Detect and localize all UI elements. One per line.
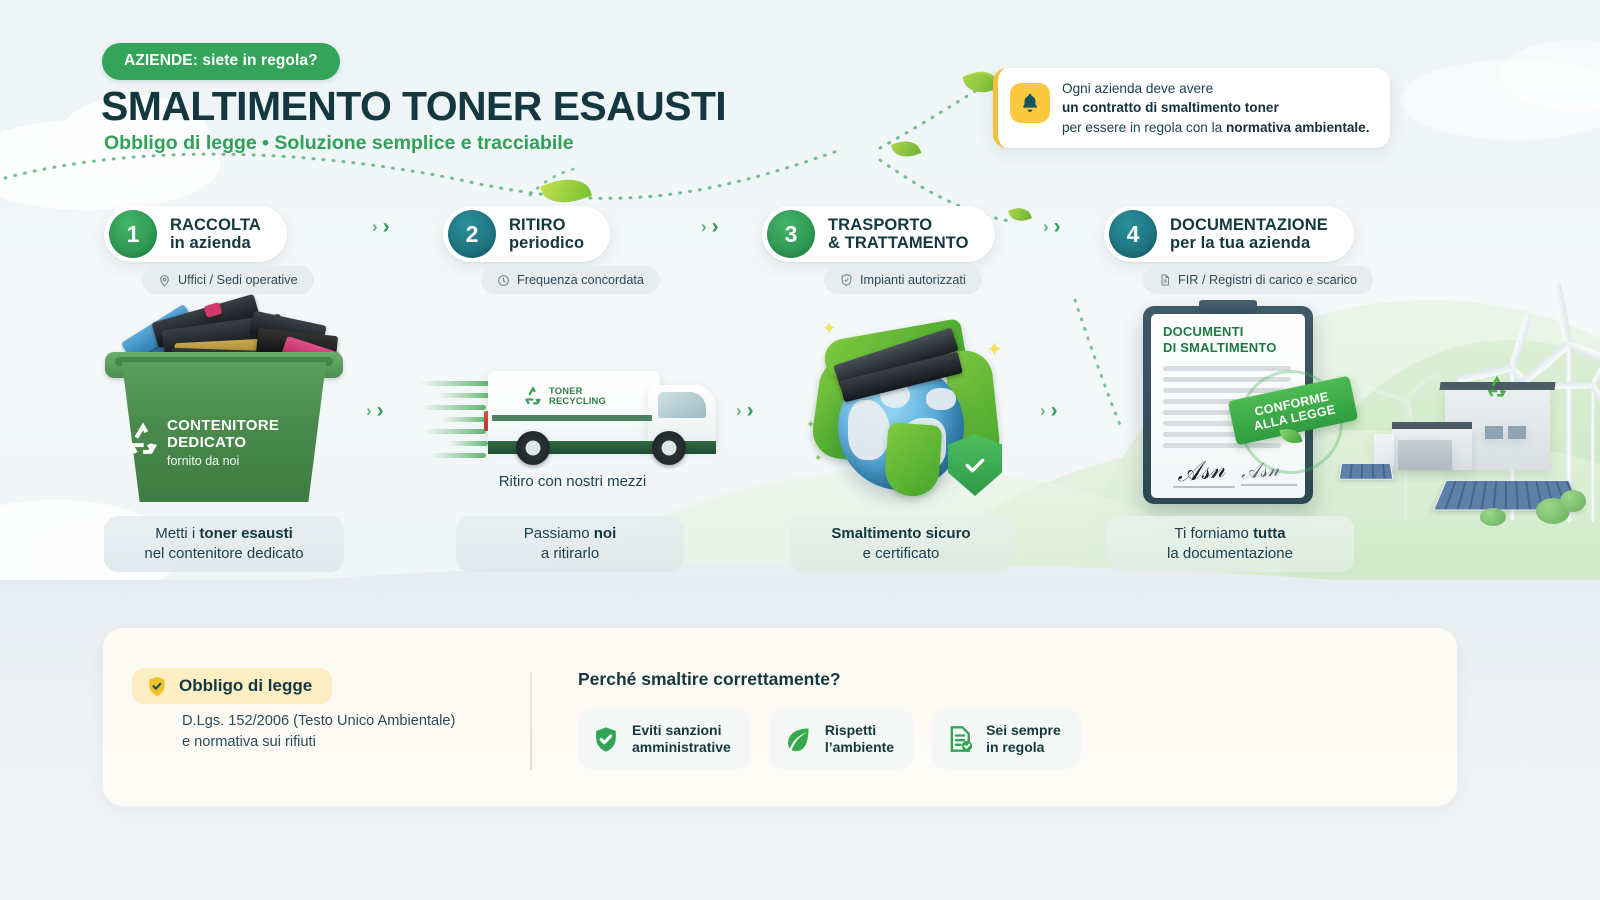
shield-check-icon — [948, 434, 1002, 496]
illustration-arrow-3: › › — [1040, 400, 1058, 421]
document-icon — [1159, 273, 1171, 287]
caption-line-1: Smaltimento sicuro — [831, 524, 970, 544]
bin-label-line-3: fornito da noi — [167, 454, 279, 468]
clipboard-title: DOCUMENTI DI SMALTIMENTO — [1163, 324, 1277, 355]
van-side-trim — [492, 415, 652, 421]
shield-check-icon — [146, 674, 168, 698]
caption-line-1: Ti forniamo tutta — [1174, 524, 1285, 544]
motion-line — [420, 381, 490, 386]
step-card-4[interactable]: 4 DOCUMENTAZIONE per la tua azienda — [1104, 206, 1354, 262]
benefit-card-2[interactable]: Rispetti l’ambiente — [769, 709, 914, 769]
subtitle-part-b: Soluzione semplice e tracciabile — [274, 132, 573, 154]
why-section-title: Perché smaltire correttamente? — [578, 669, 841, 690]
bin-label: CONTENITORE DEDICATO fornito da noi — [167, 418, 279, 468]
sparkle-icon: ✦ — [814, 454, 822, 464]
van-window — [658, 392, 706, 418]
illustration-pickup-van: TONER RECYCLING Ritiro con nostri mezzi — [420, 345, 725, 500]
caption-line-1: Passiamo noi — [524, 524, 617, 544]
step-tag-2: Frequenza concordata — [481, 266, 660, 294]
van-logo: TONER RECYCLING — [520, 383, 606, 409]
caption-card-2: Passiamo noi a ritirarlo — [456, 516, 684, 572]
caption-card-4: Ti forniamo tutta la documentazione — [1106, 516, 1354, 572]
caption-bold: noi — [594, 525, 617, 542]
clock-icon — [497, 274, 510, 287]
step-card-1[interactable]: 1 RACCOLTA in azienda — [104, 206, 287, 262]
van-logo-text: TONER RECYCLING — [549, 386, 606, 406]
step-tag-label-1: Uffici / Sedi operative — [178, 273, 298, 287]
facility-window — [1508, 426, 1526, 439]
motion-line — [420, 405, 486, 410]
step-arrow-1: › › — [372, 216, 390, 237]
clipboard-clip — [1199, 300, 1257, 314]
chevron-right-icon: › — [1040, 402, 1046, 419]
step-tag-label-3: Impianti autorizzati — [860, 273, 966, 287]
clipboard-text-line — [1163, 366, 1291, 371]
caption-line-2: e certificato — [863, 544, 940, 564]
caption-bold: tutta — [1253, 525, 1286, 542]
step-card-2[interactable]: 2 RITIRO periodico — [443, 206, 610, 262]
step-title-1: RACCOLTA — [170, 216, 261, 234]
illustration-recycling-facility — [1330, 330, 1600, 530]
signature-line — [1241, 484, 1297, 486]
benefit-line-2: l’ambiente — [825, 739, 894, 757]
obligation-badge: Obbligo di legge — [132, 668, 332, 704]
chevron-right-icon: › — [1054, 216, 1061, 237]
why-cards-row: Eviti sanzioni amministrative Rispetti l… — [578, 709, 1081, 769]
facility-roof — [1392, 422, 1472, 429]
van-caption: Ritiro con nostri mezzi — [420, 473, 725, 490]
motion-line — [438, 393, 492, 398]
chevron-right-icon: › — [712, 216, 719, 237]
facility-door — [1398, 440, 1452, 470]
chevron-right-icon: › — [366, 402, 372, 419]
caption-prefix: Ti forniamo — [1174, 525, 1253, 542]
step-number-badge-2: 2 — [448, 210, 496, 258]
document-check-icon — [946, 724, 974, 754]
chevron-right-icon: › — [377, 400, 384, 421]
caption-prefix: Metti i — [155, 525, 199, 542]
step-arrow-3: › › — [1043, 216, 1061, 237]
illustration-toner-bin: CONTENITORE DEDICATO fornito da noi — [105, 300, 345, 505]
facility-window — [1485, 426, 1503, 439]
callout-line-1: Ogni azienda deve avere — [1062, 79, 1370, 98]
chevron-right-icon: › — [383, 216, 390, 237]
caption-line-2: a ritirarlo — [541, 544, 599, 564]
illustration-globe-recycling: ✦ ✦ ✦ ✦ ✦ — [800, 312, 1015, 502]
bush-shape — [1480, 508, 1506, 526]
signature-mark: 𝒜𝓈𝓃 — [1240, 458, 1280, 484]
motion-line — [442, 417, 488, 422]
page-subtitle: Obbligo di legge • Soluzione semplice e … — [104, 132, 574, 155]
sparkle-icon: ✦ — [986, 340, 1003, 360]
bin-label-line-1: CONTENITORE — [167, 418, 279, 435]
step-title-3: TRASPORTO — [828, 216, 969, 234]
eyebrow-badge: AZIENDE: siete in regola? — [102, 43, 340, 80]
illustration-arrow-1: › › — [366, 400, 384, 421]
obligation-description: D.Lgs. 152/2006 (Testo Unico Ambientale)… — [182, 711, 455, 753]
step-arrow-2: › › — [701, 216, 719, 237]
benefit-text-1: Eviti sanzioni amministrative — [632, 722, 731, 757]
motion-line — [448, 441, 488, 446]
leaf-icon — [783, 725, 813, 753]
obligation-title: Obbligo di legge — [179, 676, 312, 696]
caption-prefix: Passiamo — [524, 525, 594, 542]
step-number-badge-3: 3 — [767, 210, 815, 258]
step-number-badge-1: 1 — [109, 210, 157, 258]
bell-icon — [1010, 83, 1050, 123]
step-tag-label-4: FIR / Registri di carico e scarico — [1178, 273, 1357, 287]
benefit-line-1: Rispetti — [825, 722, 894, 740]
step-title-2: RITIRO — [509, 216, 584, 234]
callout-line-3-bold: normativa ambientale. — [1226, 120, 1370, 135]
step-subtitle-4: per la tua azienda — [1170, 234, 1328, 252]
clipboard-title-line-2: DI SMALTIMENTO — [1163, 340, 1277, 356]
recycle-icon — [520, 383, 546, 409]
chevron-right-icon: › — [372, 218, 378, 235]
clipboard-title-line-1: DOCUMENTI — [1163, 324, 1277, 340]
subtitle-part-a: Obbligo di legge — [104, 132, 257, 154]
benefit-line-1: Eviti sanzioni — [632, 722, 731, 740]
step-subtitle-1: in azienda — [170, 234, 261, 252]
benefit-card-1[interactable]: Eviti sanzioni amministrative — [578, 709, 751, 769]
step-subtitle-2: periodico — [509, 234, 584, 252]
illustration-disposal-documents: DOCUMENTI DI SMALTIMENTO CONFORME ALLA L… — [1135, 300, 1325, 505]
callout-card: Ogni azienda deve avere un contratto di … — [993, 68, 1390, 148]
van-logo-line-2: RECYCLING — [549, 396, 606, 406]
solar-panel-array — [1339, 463, 1394, 479]
chevron-right-icon: › — [701, 218, 707, 235]
chevron-right-icon: › — [1043, 218, 1049, 235]
chevron-right-icon: › — [1051, 400, 1058, 421]
van-wheel — [516, 431, 550, 465]
step-card-3[interactable]: 3 TRASPORTO & TRATTAMENTO — [762, 206, 995, 262]
shield-check-icon — [840, 273, 853, 287]
chevron-right-icon: › — [747, 400, 754, 421]
caption-card-3: Smaltimento sicuro e certificato — [790, 516, 1012, 572]
caption-line-1: Metti i toner esausti — [155, 524, 293, 544]
location-pin-icon — [158, 274, 171, 287]
benefit-line-2: in regola — [986, 739, 1061, 757]
caption-bold: Smaltimento sicuro — [831, 525, 970, 542]
recycle-icon — [123, 418, 163, 458]
benefit-text-2: Rispetti l’ambiente — [825, 722, 894, 757]
caption-line-2: nel contenitore dedicato — [144, 544, 303, 564]
subtitle-separator: • — [262, 132, 269, 154]
obligation-line-1: D.Lgs. 152/2006 (Testo Unico Ambientale) — [182, 711, 455, 732]
benefit-line-1: Sei sempre — [986, 722, 1061, 740]
caption-bold: toner esausti — [199, 525, 292, 542]
motion-line — [424, 429, 486, 434]
landmass-shape — [848, 400, 890, 460]
callout-line-3-prefix: per essere in regola con la — [1062, 120, 1226, 135]
illustration-arrow-2: › › — [736, 400, 754, 421]
landmass-shape — [926, 388, 956, 410]
recycle-icon — [1482, 372, 1512, 402]
motion-line — [430, 453, 486, 458]
sparkle-icon: ✦ — [822, 320, 836, 337]
benefit-line-2: amministrative — [632, 739, 731, 757]
obligation-line-2: e normativa sui rifiuti — [182, 732, 455, 753]
caption-card-1: Metti i toner esausti nel contenitore de… — [104, 516, 344, 572]
step-tag-label-2: Frequenza concordata — [517, 273, 644, 287]
step-subtitle-3: & TRATTAMENTO — [828, 234, 969, 252]
step-number-badge-4: 4 — [1109, 210, 1157, 258]
infographic-canvas: AZIENDE: siete in regola? SMALTIMENTO TO… — [0, 0, 1600, 900]
panel-divider — [530, 672, 532, 770]
recycle-arrow-band — [884, 422, 943, 498]
callout-text: Ogni azienda deve avere un contratto di … — [1062, 79, 1370, 137]
signature-line — [1173, 486, 1235, 488]
step-tag-3: Impianti autorizzati — [824, 266, 982, 294]
page-title: SMALTIMENTO TONER ESAUSTI — [101, 83, 726, 130]
chevron-right-icon: › — [736, 402, 742, 419]
shield-check-icon — [592, 724, 620, 754]
callout-line-2: un contratto di smaltimento toner — [1062, 100, 1279, 115]
step-tag-4: FIR / Registri di carico e scarico — [1143, 266, 1373, 294]
step-title-4: DOCUMENTAZIONE — [1170, 216, 1328, 234]
signature-mark: 𝒜𝓈𝓃 — [1176, 456, 1227, 489]
bush-shape — [1560, 490, 1586, 512]
benefit-text-3: Sei sempre in regola — [986, 722, 1061, 757]
benefit-card-3[interactable]: Sei sempre in regola — [932, 709, 1081, 769]
van-wheel — [652, 431, 686, 465]
caption-line-2: la documentazione — [1167, 544, 1293, 564]
bin-label-line-2: DEDICATO — [167, 435, 279, 452]
step-tag-1: Uffici / Sedi operative — [142, 266, 314, 294]
